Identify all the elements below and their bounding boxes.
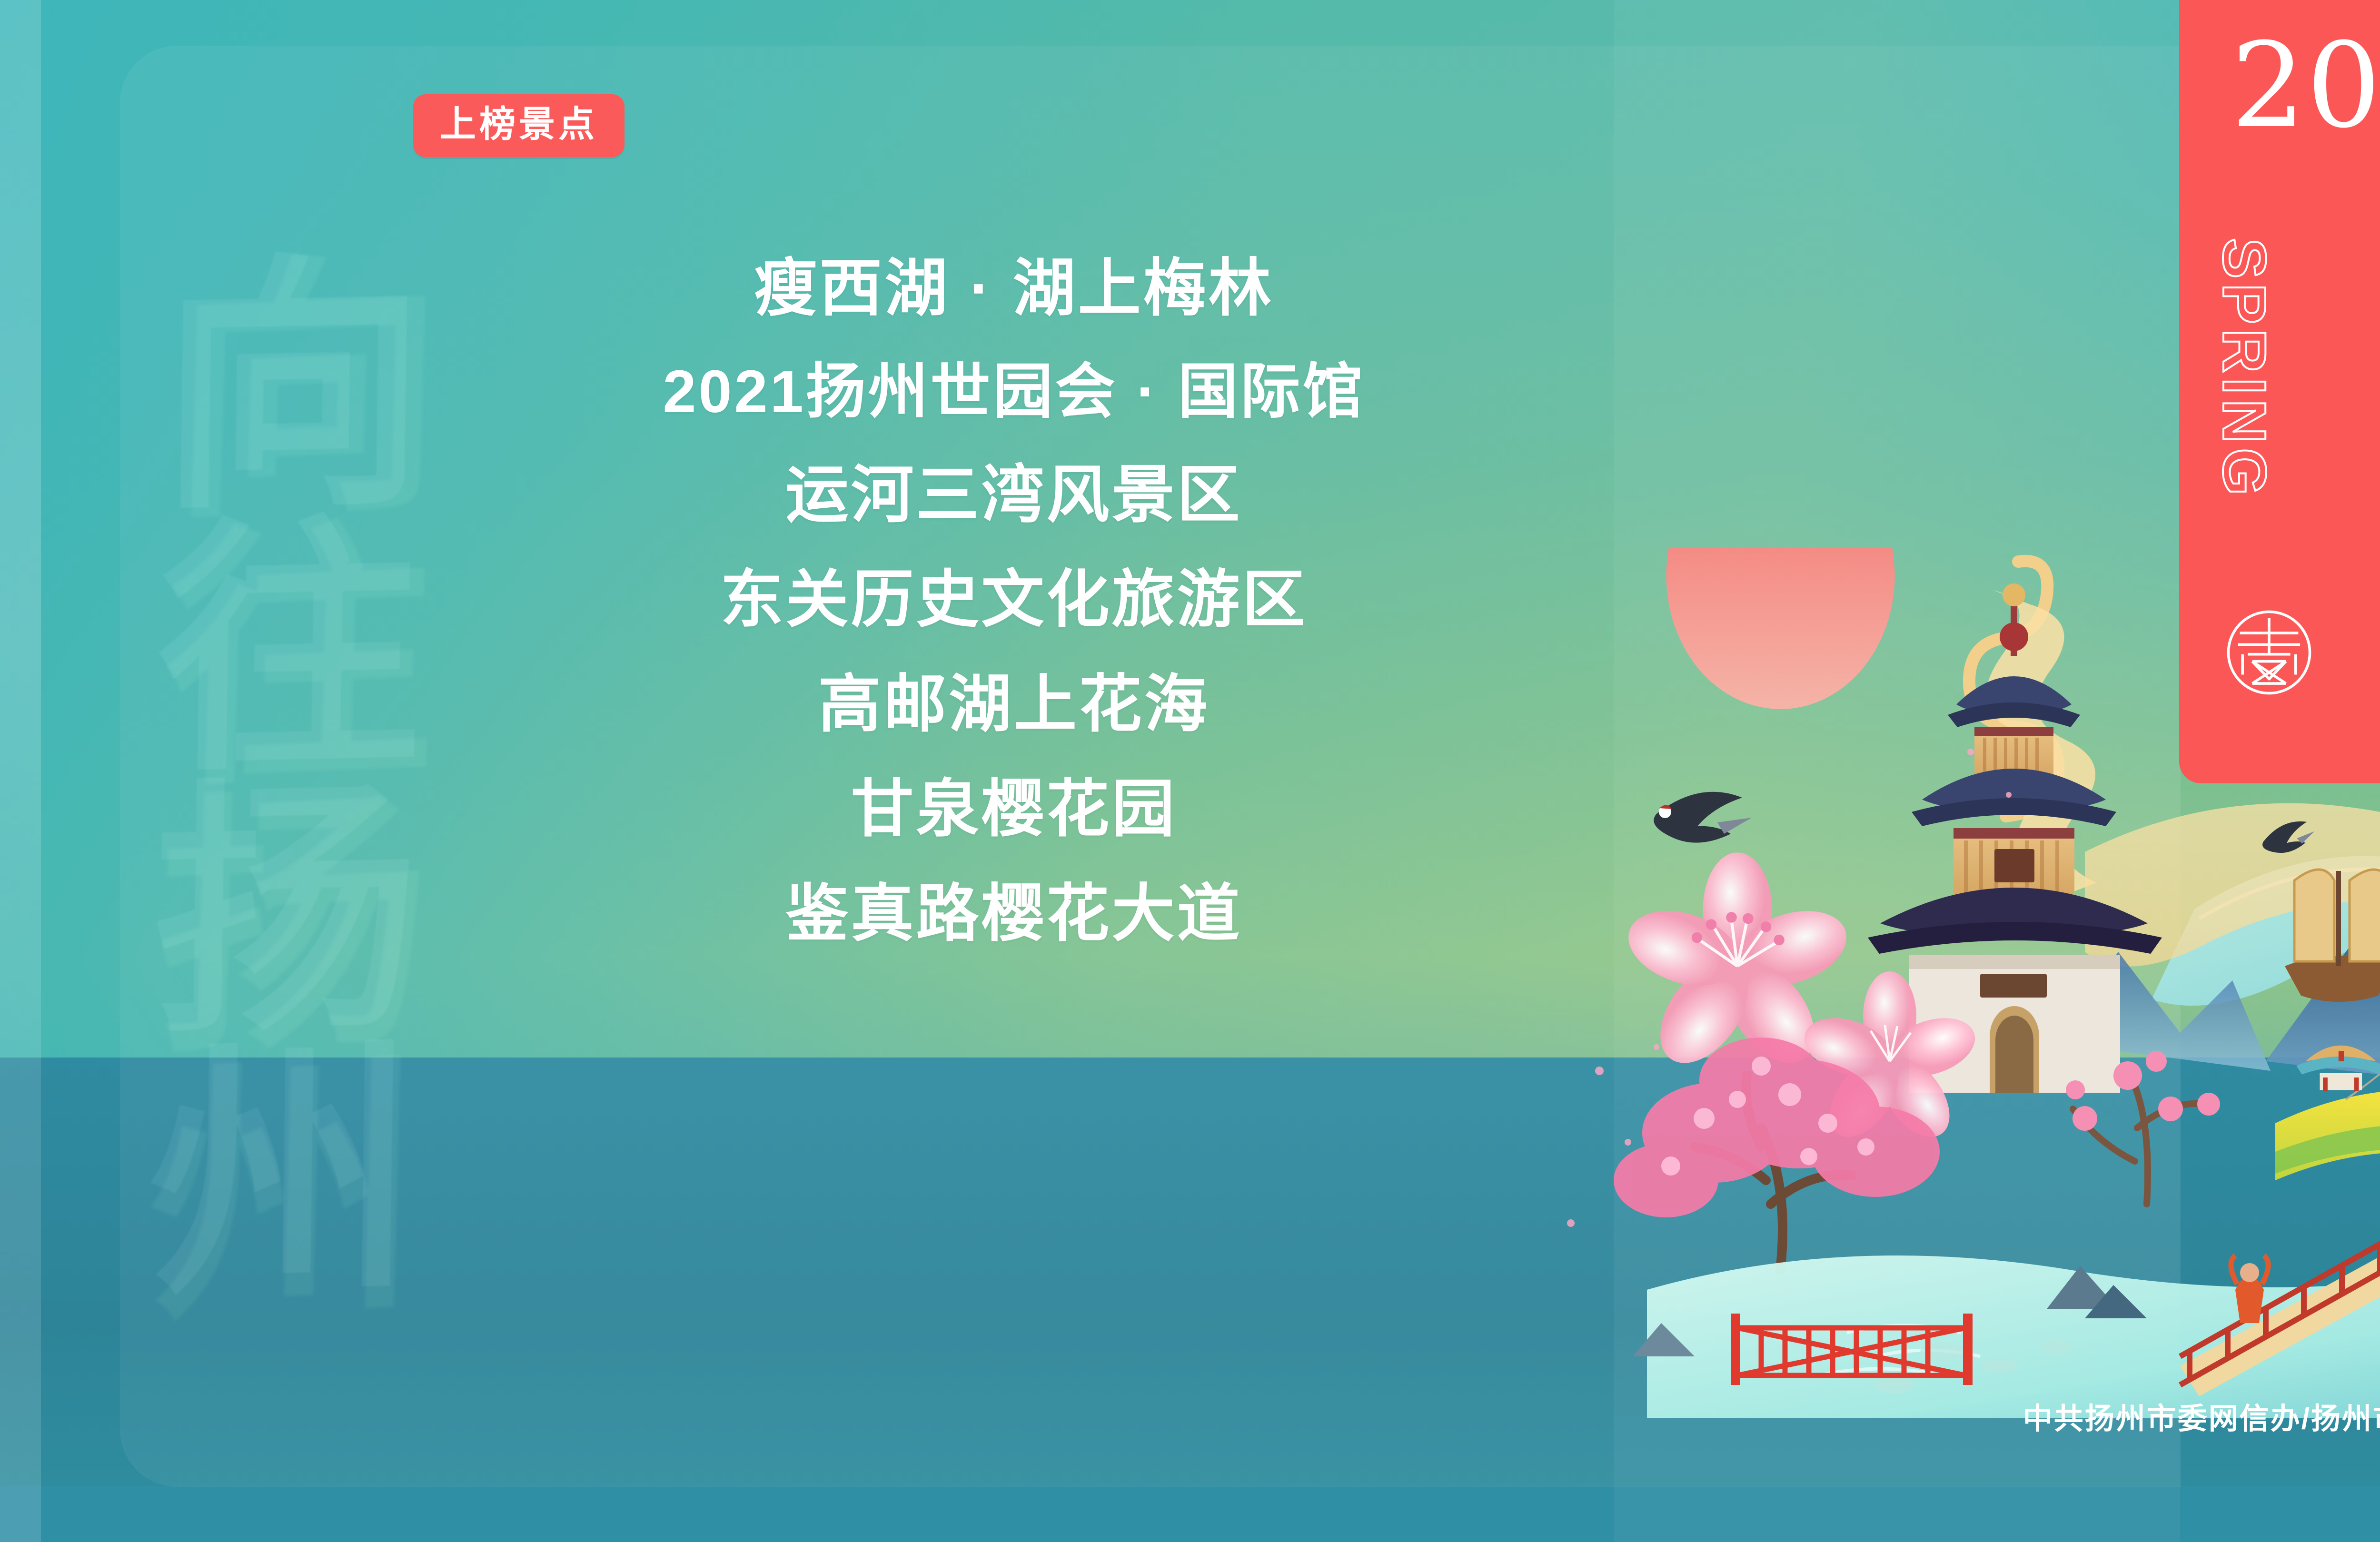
- list-item[interactable]: 鉴真路樱花大道: [786, 882, 1242, 945]
- spring-wordmark: SPRING: [2209, 238, 2279, 500]
- list-item[interactable]: 甘泉樱花园: [851, 778, 1177, 840]
- attraction-list: 瘦西湖 · 湖上梅林 2021扬州世园会 · 国际馆 运河三湾风景区 东关历史文…: [405, 257, 1623, 987]
- listed-attractions-badge[interactable]: 上榜景点: [413, 94, 625, 157]
- title-banner: 2021 网红打卡地 春季榜单 SPRING: [2179, 0, 2380, 783]
- poster-canvas: 向往扬州 向往扬州: [0, 0, 2380, 1542]
- list-item[interactable]: 运河三湾风景区: [786, 464, 1242, 526]
- list-item[interactable]: 高邮湖上花海: [818, 673, 1210, 736]
- spring-seal-icon: [2225, 608, 2313, 697]
- watermark-calligraphy: 向往扬州: [9, 10, 401, 1532]
- swallow-bird-2: [2259, 818, 2318, 858]
- list-item[interactable]: 2021扬州世园会 · 国际馆: [663, 362, 1365, 422]
- banner-year: 2021: [2179, 28, 2380, 145]
- spring-wordmark-wrap: SPRING: [2219, 238, 2281, 581]
- river: [2152, 842, 2380, 1006]
- organizer-credit: 中共扬州市委网信办/扬州市文化广电和旅游局: [2023, 1394, 2380, 1437]
- list-item[interactable]: 东关历史文化旅游区: [721, 568, 1308, 631]
- sailing-boat: [2285, 870, 2380, 1002]
- list-item[interactable]: 瘦西湖 · 湖上梅林: [754, 257, 1273, 320]
